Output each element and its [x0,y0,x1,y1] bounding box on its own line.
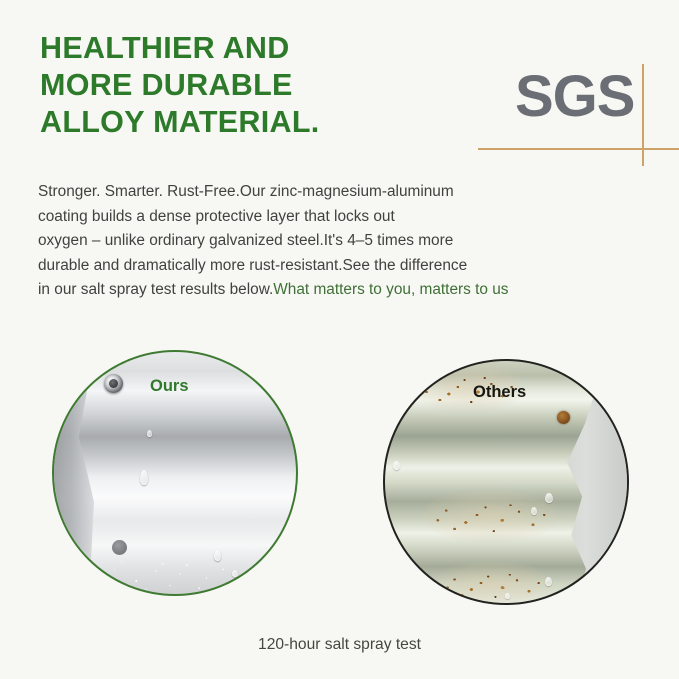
others-sample-circle: Others [383,359,629,605]
sgs-certification-logo: SGS [470,58,675,163]
body-line-5-plain: in our salt spray test results below. [38,281,273,298]
body-paragraph: Stronger. Smarter. Rust-Free.Our zinc-ma… [38,180,648,303]
body-line-2: coating builds a dense protective layer … [38,205,648,230]
water-droplet [505,593,510,599]
headline-line-1: HEALTHIER AND [40,30,440,67]
body-line-4: durable and dramatically more rust-resis… [38,254,648,279]
sgs-vertical-rule [642,64,644,166]
water-droplet [147,430,152,437]
headline-line-2: MORE DURABLE [40,67,440,104]
ours-sample-circle: Ours [52,350,298,596]
body-line-3: oxygen – unlike ordinary galvanized stee… [38,229,648,254]
rust-blob [557,411,570,424]
sgs-horizontal-rule [478,148,679,150]
others-panel-fold [559,361,627,603]
others-label: Others [473,383,526,402]
ours-label: Ours [150,377,189,396]
body-line-5: in our salt spray test results below.Wha… [38,278,648,303]
headline-line-3: ALLOY MATERIAL. [40,104,440,141]
water-droplet [545,493,553,503]
bolt-icon [104,374,123,393]
rust-patch [433,561,553,605]
promo-page: HEALTHIER AND MORE DURABLE ALLOY MATERIA… [0,0,679,679]
brand-tagline: What matters to you, matters to us [273,281,508,298]
page-title: HEALTHIER AND MORE DURABLE ALLOY MATERIA… [40,30,440,141]
rust-patch [421,489,561,543]
water-droplet [393,461,400,470]
sgs-logo-text: SGS [515,66,635,128]
water-mist-spray [54,522,296,594]
body-line-1: Stronger. Smarter. Rust-Free.Our zinc-ma… [38,180,648,205]
water-droplet [140,470,148,485]
test-caption: 120-hour salt spray test [0,636,679,654]
water-droplet [545,577,552,586]
water-droplet [531,507,537,515]
